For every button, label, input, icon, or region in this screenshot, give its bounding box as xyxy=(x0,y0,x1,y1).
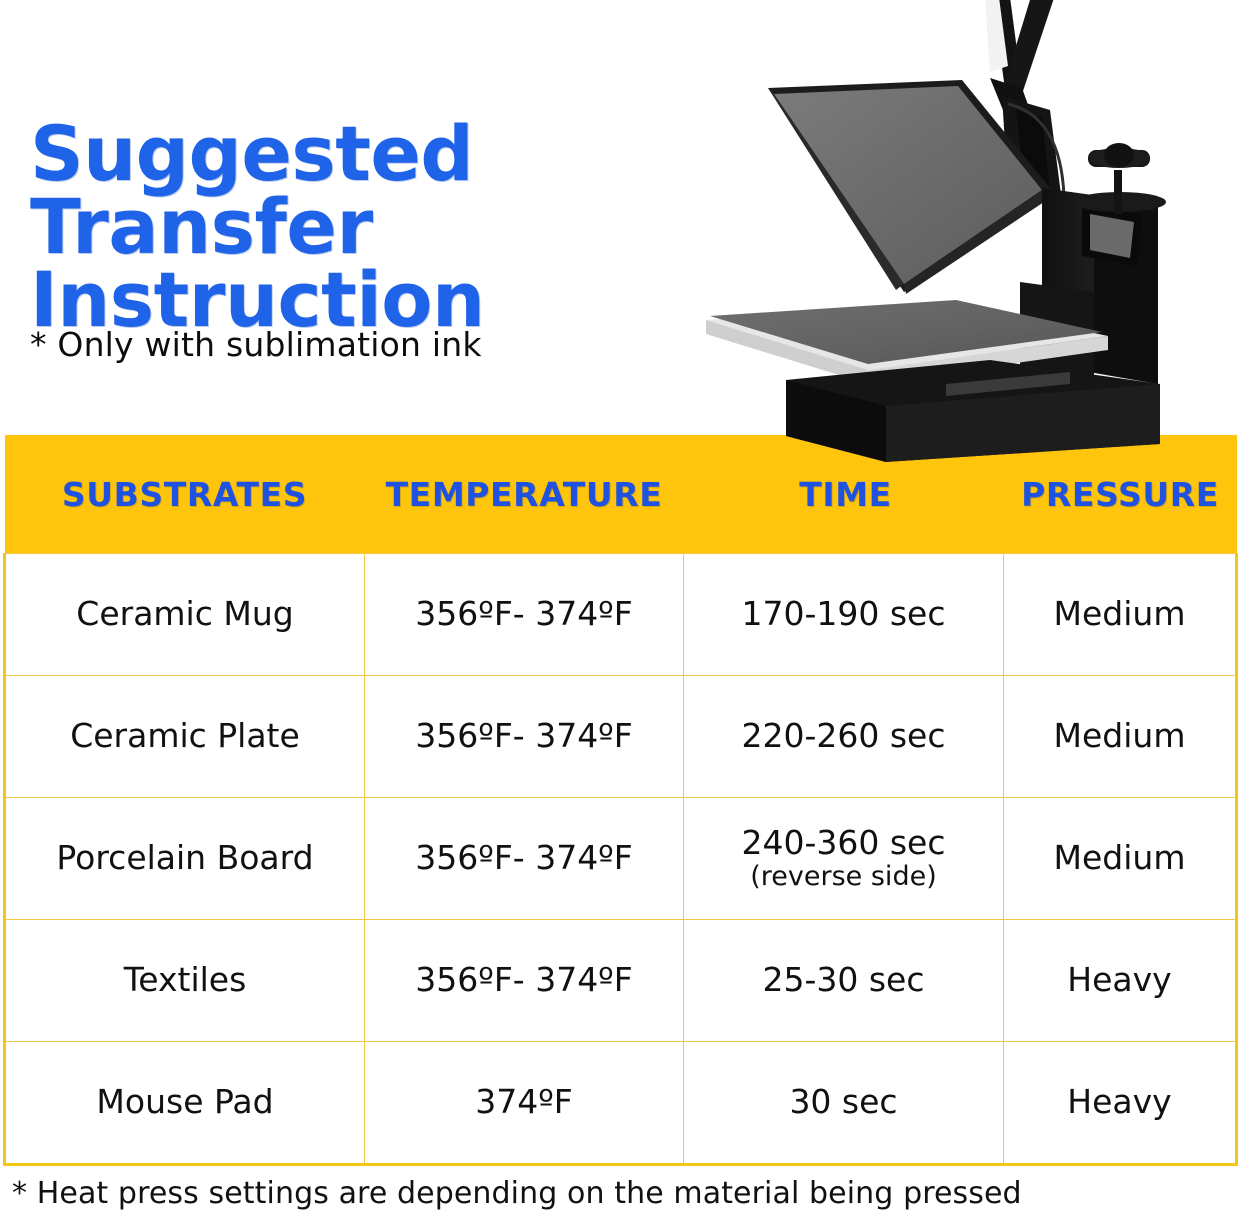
table-row: Ceramic Plate 356ºF- 374ºF 220-260 sec M… xyxy=(5,676,1237,798)
cell-substrate: Textiles xyxy=(5,920,365,1042)
table-row: Mouse Pad 374ºF 30 sec Heavy xyxy=(5,1042,1237,1165)
cell-temperature: 356ºF- 374ºF xyxy=(365,676,684,798)
cell-pressure: Heavy xyxy=(1004,1042,1237,1165)
column-header-time: TIME xyxy=(684,435,1004,554)
instruction-sheet: Suggested Transfer Instruction * Only wi… xyxy=(0,0,1260,1226)
column-header-pressure: PRESSURE xyxy=(1004,435,1237,554)
cell-pressure: Medium xyxy=(1004,798,1237,920)
pressure-adjustment-knob-icon xyxy=(1088,143,1150,214)
cell-substrate: Ceramic Plate xyxy=(5,676,365,798)
cell-time-note: (reverse side) xyxy=(690,861,997,893)
cell-substrate: Mouse Pad xyxy=(5,1042,365,1165)
cell-temperature: 356ºF- 374ºF xyxy=(365,920,684,1042)
cell-temperature: 356ºF- 374ºF xyxy=(365,554,684,676)
column-header-substrates: SUBSTRATES xyxy=(5,435,365,554)
cell-time: 220-260 sec xyxy=(684,676,1004,798)
table-row: Ceramic Mug 356ºF- 374ºF 170-190 sec Med… xyxy=(5,554,1237,676)
footer-note: * Heat press settings are depending on t… xyxy=(12,1176,1022,1211)
table-body: Ceramic Mug 356ºF- 374ºF 170-190 sec Med… xyxy=(5,554,1237,1165)
cell-time-value: 30 sec xyxy=(690,1083,997,1122)
page-title: Suggested Transfer Instruction xyxy=(30,118,814,337)
table-row: Textiles 356ºF- 374ºF 25-30 sec Heavy xyxy=(5,920,1237,1042)
cell-time: 25-30 sec xyxy=(684,920,1004,1042)
cell-substrate: Ceramic Mug xyxy=(5,554,365,676)
cell-temperature: 356ºF- 374ºF xyxy=(365,798,684,920)
cell-pressure: Medium xyxy=(1004,554,1237,676)
transfer-settings-table: SUBSTRATES TEMPERATURE TIME PRESSURE Cer… xyxy=(3,435,1235,1166)
header-row: SUBSTRATES TEMPERATURE TIME PRESSURE xyxy=(5,435,1237,554)
machine-body xyxy=(1020,188,1166,384)
cell-pressure: Heavy xyxy=(1004,920,1237,1042)
table-header: SUBSTRATES TEMPERATURE TIME PRESSURE xyxy=(5,435,1237,554)
cell-temperature: 374ºF xyxy=(365,1042,684,1165)
cell-time-value: 25-30 sec xyxy=(690,961,997,1000)
press-handle-arm-icon xyxy=(984,0,1058,152)
settings-table: SUBSTRATES TEMPERATURE TIME PRESSURE Cer… xyxy=(3,435,1238,1166)
table-row: Porcelain Board 356ºF- 374ºF 240-360 sec… xyxy=(5,798,1237,920)
press-hinge xyxy=(1002,96,1064,202)
subtitle-note: * Only with sublimation ink xyxy=(30,325,482,364)
cell-time-value: 170-190 sec xyxy=(690,595,997,634)
cell-time-value: 220-260 sec xyxy=(690,717,997,756)
cell-time: 240-360 sec (reverse side) xyxy=(684,798,1004,920)
cell-time: 170-190 sec xyxy=(684,554,1004,676)
cell-pressure: Medium xyxy=(1004,676,1237,798)
column-header-temperature: TEMPERATURE xyxy=(365,435,684,554)
cell-time: 30 sec xyxy=(684,1042,1004,1165)
heading-block: Suggested Transfer Instruction xyxy=(30,118,830,337)
cell-time-value: 240-360 sec xyxy=(690,824,997,863)
cell-substrate: Porcelain Board xyxy=(5,798,365,920)
